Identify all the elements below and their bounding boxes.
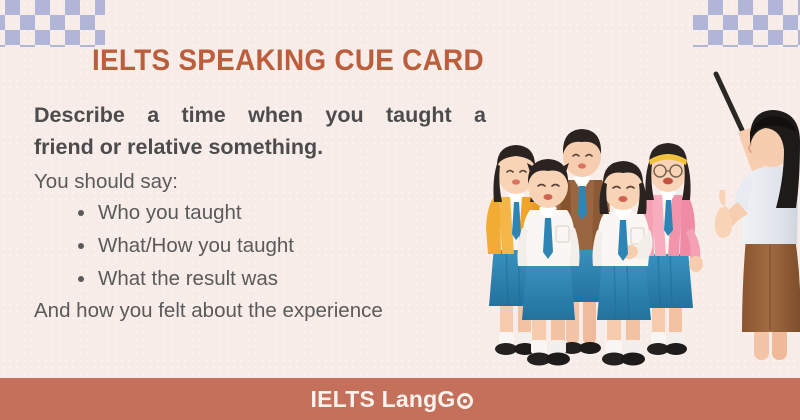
checkerboard-decoration-right [693,0,800,47]
list-item: What the result was [78,262,500,295]
teacher-and-students-illustration [470,68,800,378]
go-ring-icon [457,393,473,409]
closing-text: And how you felt about the experience [34,299,500,323]
brand-logo: IELTS LangG [311,386,474,413]
footer-bar: IELTS LangG [0,378,800,420]
list-item: What/How you taught [78,229,500,262]
cue-card-poster: IELTS SPEAKING CUE CARD Describe a time … [0,0,800,420]
page-title: IELTS SPEAKING CUE CARD [92,44,471,78]
prompt-line-2: friend or relative something. [34,132,486,164]
brand-text: IELTS LangG [311,386,456,413]
instruction-text: You should say: [34,170,500,194]
card-content: IELTS SPEAKING CUE CARD Describe a time … [0,0,500,420]
prompt-line-1: Describe a time when you taught a [34,100,486,132]
teacher [715,74,800,360]
list-item: Who you taught [78,196,500,229]
student-girl-white-shirt [593,161,653,366]
cue-list: Who you taught What/How you taught What … [34,196,500,296]
cue-card-prompt: Describe a time when you taught a friend… [34,100,486,164]
